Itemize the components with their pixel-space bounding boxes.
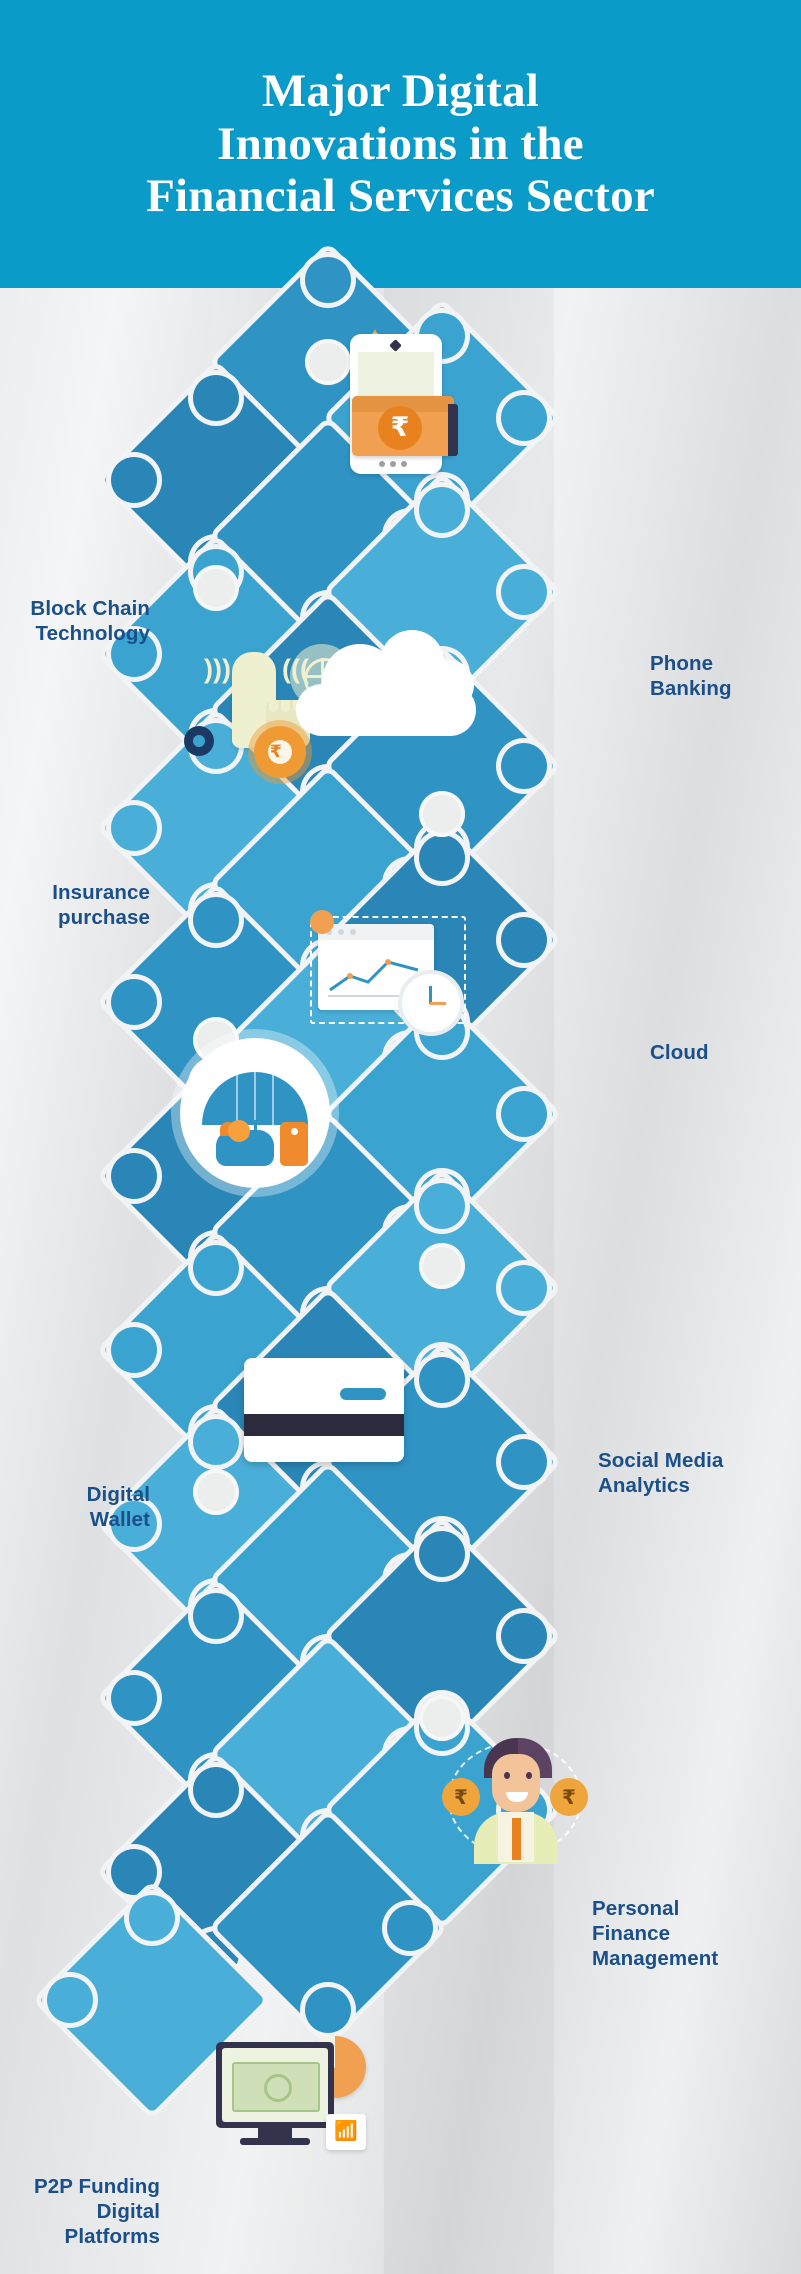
person-face [492, 1754, 540, 1812]
infographic-page: Major Digital Innovations in the Financi… [0, 0, 801, 2274]
puzzle-socket [193, 565, 239, 611]
person-money-circle-icon: ₹ ₹ [440, 1730, 590, 1876]
header-banner: Major Digital Innovations in the Financi… [0, 0, 801, 288]
network-node-icon [184, 726, 214, 756]
page-title: Major Digital Innovations in the Financi… [146, 65, 655, 223]
page-title-line-3: Financial Services Sector [146, 170, 655, 223]
person-eye-right [526, 1772, 532, 1779]
gear-icon [310, 910, 334, 934]
window-titlebar [318, 924, 434, 940]
page-title-line-2: Innovations in the [146, 118, 655, 171]
monitor-money-piechart-icon: 📶 [208, 2036, 388, 2176]
rupee-coin-right-icon: ₹ [550, 1778, 588, 1816]
rupee-coin-left-icon: ₹ [442, 1778, 480, 1816]
puzzle-socket [419, 1243, 465, 1289]
banknote-icon [232, 2062, 320, 2112]
rss-signal-icon: 📶 [326, 2114, 366, 2150]
analytics-window-clock-icon [310, 908, 470, 1048]
coin-icon [228, 1120, 250, 1142]
card-chip [340, 1388, 386, 1400]
label-block-chain-technology: Block Chain Technology [0, 596, 150, 646]
person-eye-left [504, 1772, 510, 1779]
card-face [244, 1358, 404, 1462]
puzzle-socket [419, 791, 465, 837]
clock-icon [402, 974, 460, 1032]
person-tie [512, 1818, 521, 1860]
price-tag-icon [280, 1122, 308, 1166]
puzzle-socket [193, 1469, 239, 1515]
label-insurance-purchase: Insurance purchase [0, 880, 150, 930]
rupee-coin-icon: ₹ [378, 406, 422, 450]
label-cloud: Cloud [650, 1040, 790, 1065]
label-phone-banking: Phone Banking [650, 651, 790, 701]
cloud-icon [296, 630, 476, 738]
card-magnetic-stripe [244, 1414, 404, 1436]
gear-rupee-symbol: ₹ [270, 742, 282, 762]
label-social-media-analytics: Social Media Analytics [598, 1448, 798, 1498]
signal-wave-left-icon: ))) [204, 654, 231, 685]
umbrella-piggybank-tag-icon [180, 1038, 330, 1188]
credit-card-icon [244, 1358, 404, 1462]
puzzle-board: ✦ ₹ Phone Banking ))) ((( ₹ [0, 288, 801, 2274]
label-personal-finance-management: Personal Finance Management [592, 1896, 801, 1971]
page-title-line-1: Major Digital [146, 65, 655, 118]
label-digital-wallet: Digital Wallet [0, 1482, 150, 1532]
monitor-base [240, 2138, 310, 2145]
label-p2p-funding-digital-platforms: P2P Funding Digital Platforms [0, 2174, 160, 2249]
wallet-edge [448, 404, 458, 456]
smartphone-wallet-rupee-icon: ✦ ₹ [326, 326, 466, 476]
